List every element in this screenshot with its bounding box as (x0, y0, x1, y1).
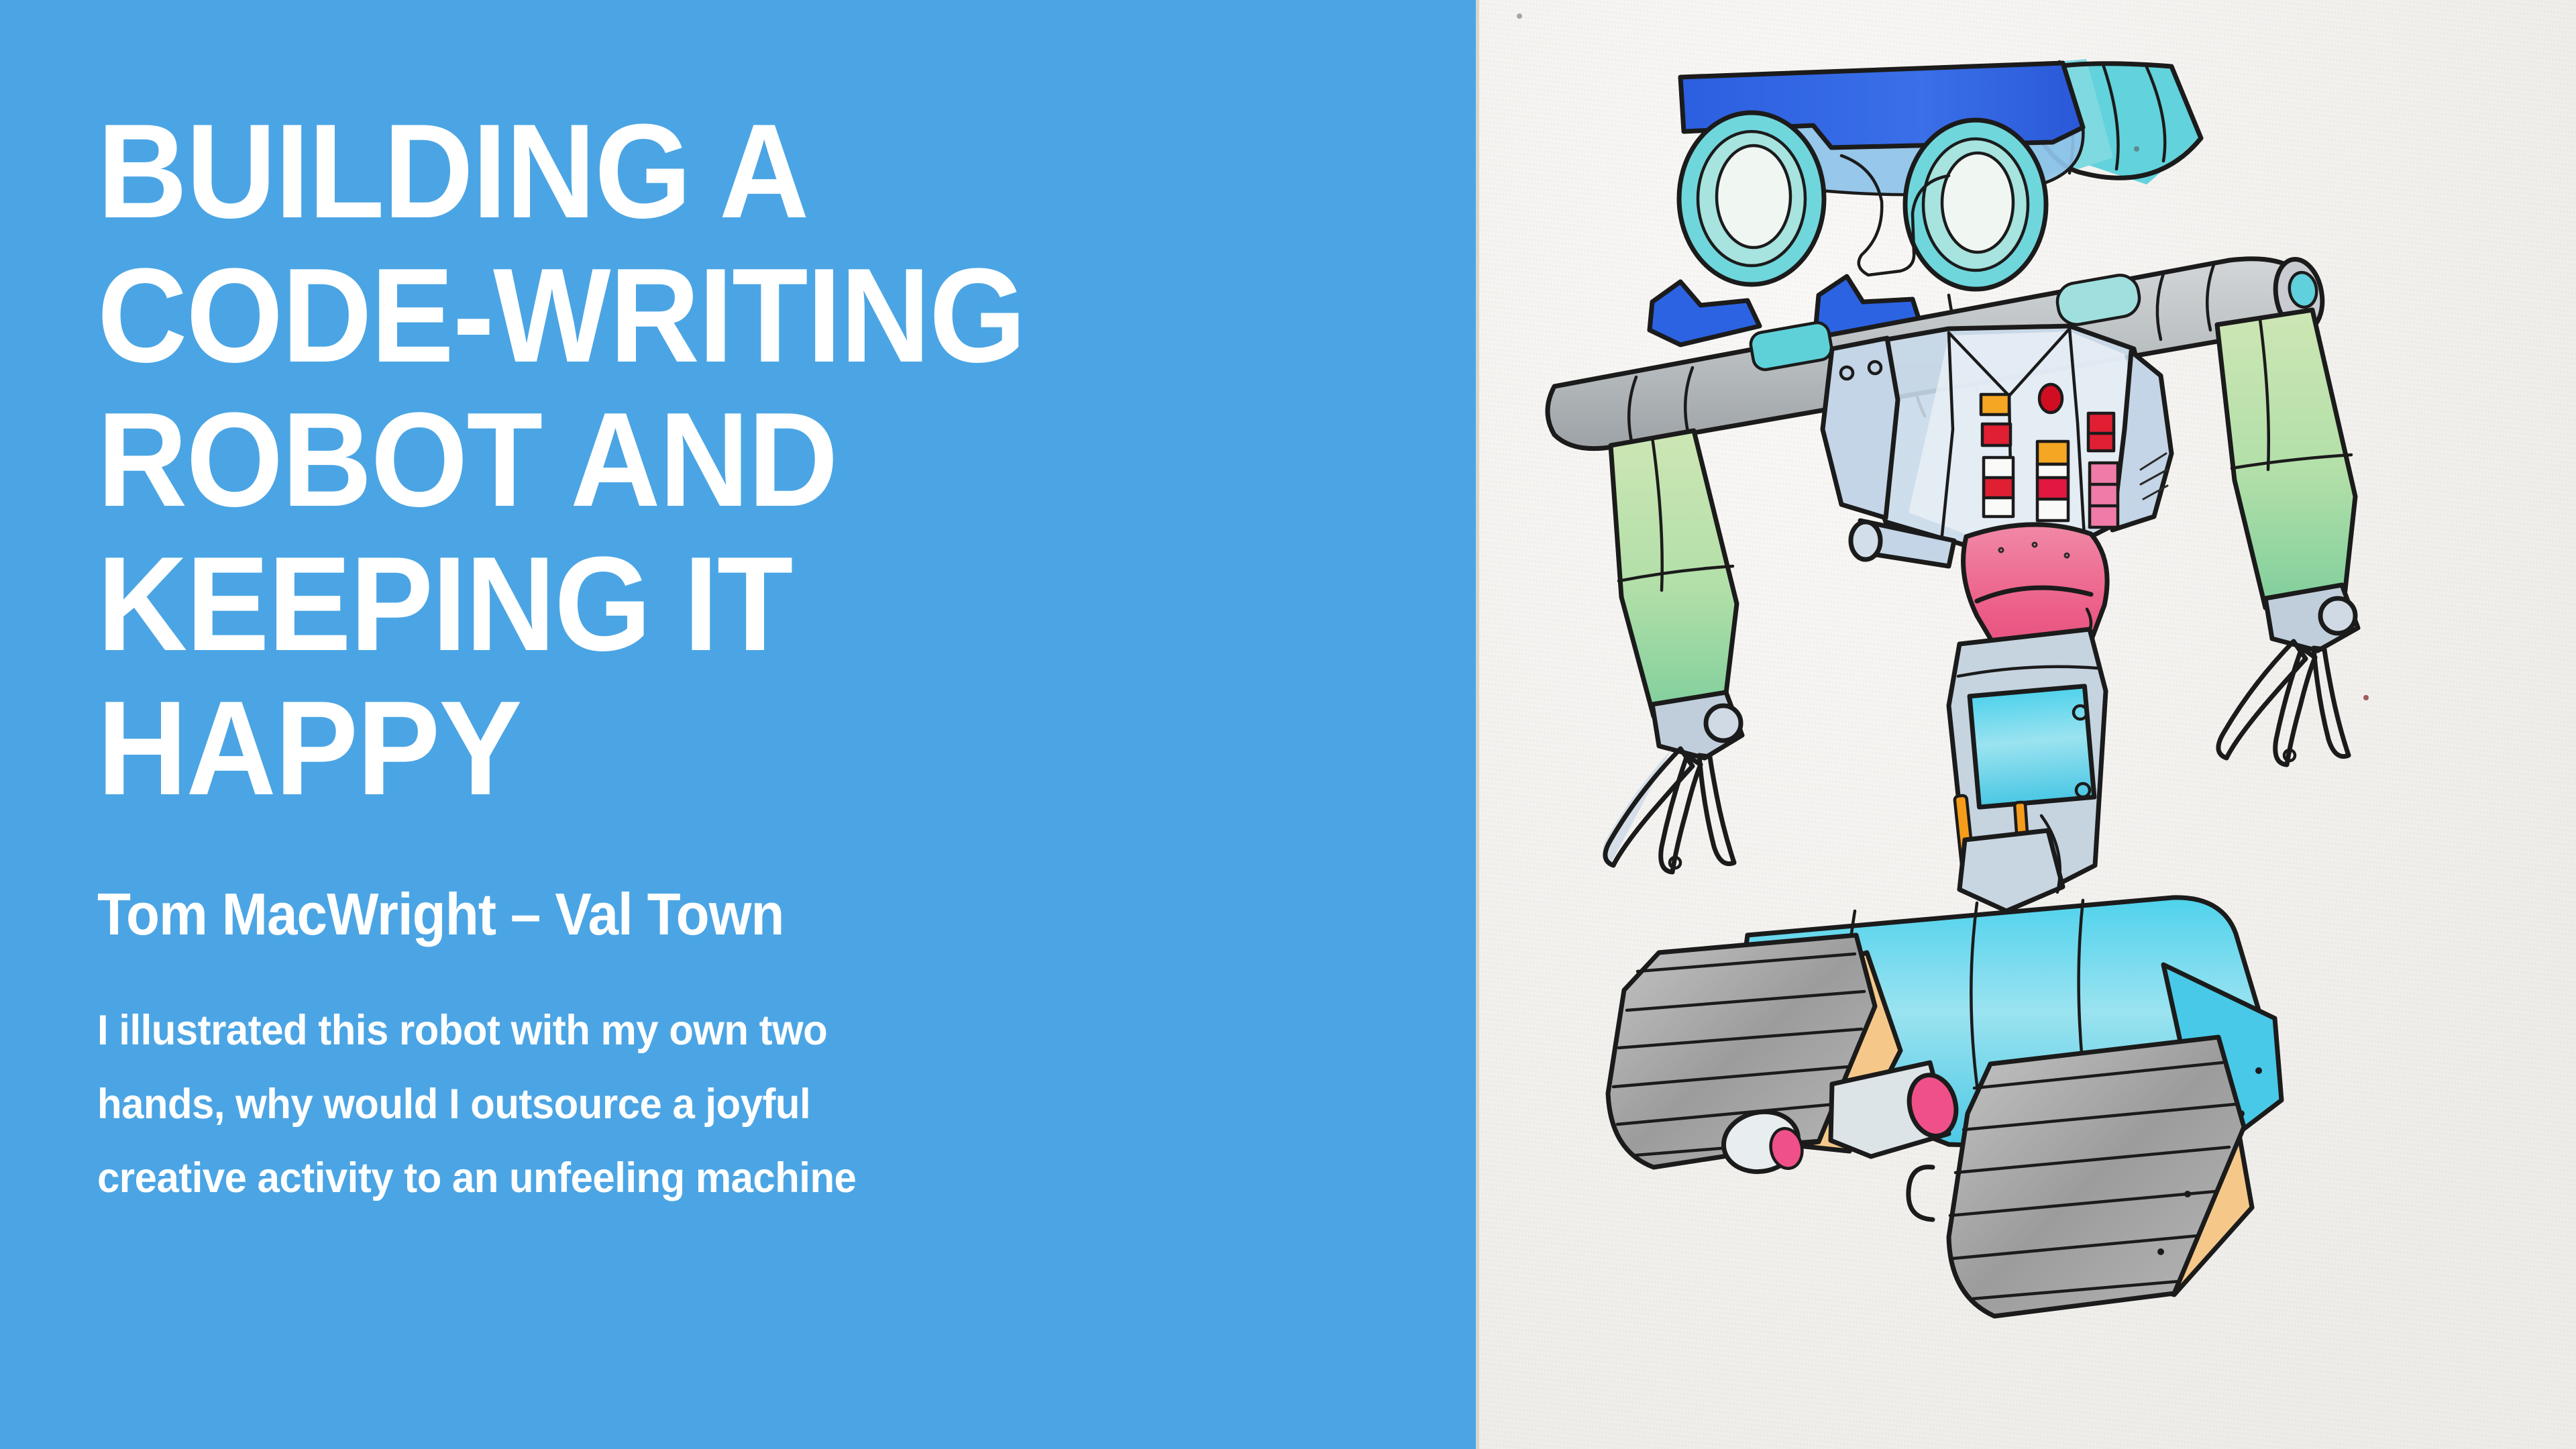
title-panel: BUILDING A CODE-WRITING ROBOT AND KEEPIN… (0, 0, 1476, 1449)
ink-speck (2363, 695, 2369, 700)
right-gripper (2218, 641, 2349, 765)
left-mouth-piece (1650, 282, 1760, 345)
presenter-byline: Tom MacWright – Val Town (97, 882, 1379, 947)
slide-root: BUILDING A CODE-WRITING ROBOT AND KEEPIN… (0, 0, 2576, 1449)
title-line-5: HAPPY (97, 676, 1283, 820)
robot-pelvis (1949, 629, 2106, 911)
description-line-2: hands, why would I outsource a joyful (97, 1067, 1308, 1141)
title-line-2: CODE-WRITING (97, 244, 1283, 388)
title-line-3: ROBOT AND (97, 388, 1283, 532)
robot-illustration (1479, 0, 2576, 1449)
ink-speck (1517, 13, 1522, 19)
right-eye (1905, 120, 2046, 289)
title-line-1: BUILDING A (97, 99, 1283, 244)
description-line-3: creative activity to an unfeeling machin… (97, 1141, 1308, 1215)
right-arm (2217, 310, 2358, 765)
ink-speck (2134, 146, 2139, 152)
description-line-1: I illustrated this robot with my own two (97, 994, 1308, 1067)
page-title: BUILDING A CODE-WRITING ROBOT AND KEEPIN… (97, 99, 1283, 820)
left-arm (1603, 431, 1742, 872)
illustration-panel (1476, 0, 2576, 1449)
title-line-4: KEEPING IT (97, 532, 1283, 676)
left-gripper (1603, 749, 1734, 872)
left-eye (1679, 113, 1824, 284)
slide-description: I illustrated this robot with my own two… (97, 994, 1308, 1215)
